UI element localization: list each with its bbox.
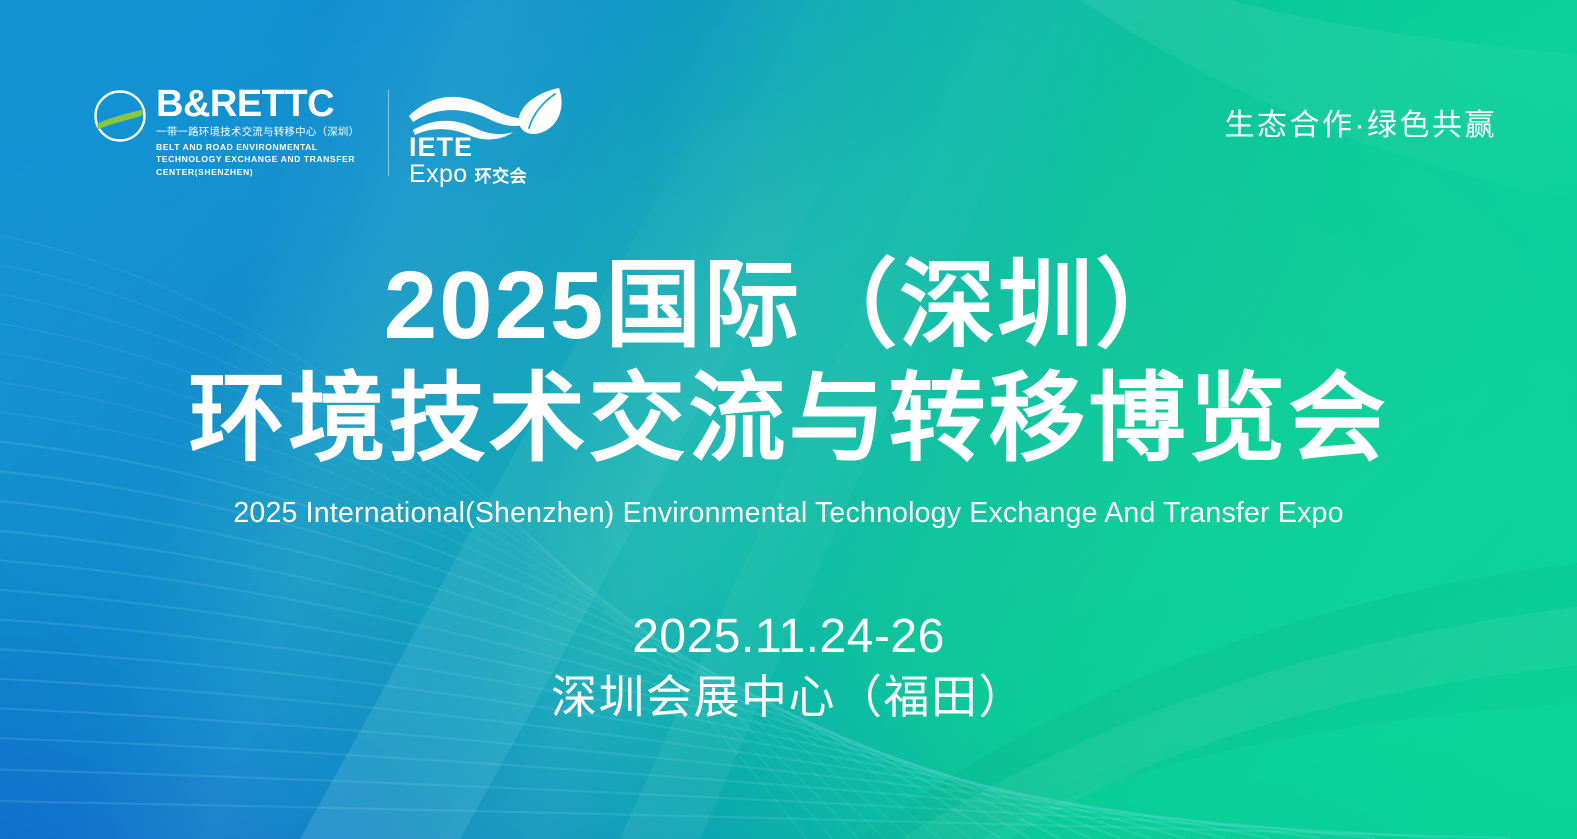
iete-subline: Expo 环交会 (409, 162, 527, 187)
iete-expo-logo: IETE Expo 环交会 (407, 86, 567, 186)
iete-acronym: IETE (409, 132, 473, 162)
brettc-wordmark: B&RETTC (156, 86, 371, 122)
brettc-logo: B&RETTC 一带一路环境技术交流与转移中心（深圳） BELT AND ROA… (92, 86, 371, 178)
brettc-chinese-name: 一带一路环境技术交流与转移中心（深圳） (156, 127, 371, 138)
hero-content: 2025国际（深圳） 环境技术交流与转移博览会 2025 Internation… (0, 258, 1577, 725)
globe-band-icon (92, 88, 148, 149)
event-meta: 2025.11.24-26 深圳会展中心（福田） (0, 612, 1577, 725)
title-line-1: 2025国际（深圳） (0, 258, 1577, 354)
banner-header: B&RETTC 一带一路环境技术交流与转移中心（深圳） BELT AND ROA… (0, 0, 1577, 210)
event-banner: B&RETTC 一带一路环境技术交流与转移中心（深圳） BELT AND ROA… (0, 0, 1577, 839)
title-line-2: 环境技术交流与转移博览会 (0, 370, 1577, 467)
iete-expo-word: Expo (409, 162, 468, 187)
event-venue: 深圳会展中心（福田） (0, 670, 1577, 724)
iete-text-block: IETE Expo 环交会 (409, 134, 527, 187)
logo-group: B&RETTC 一带一路环境技术交流与转移中心（深圳） BELT AND ROA… (92, 86, 567, 186)
iete-chinese-abbr: 环交会 (475, 168, 528, 185)
header-slogan: 生态合作·绿色共赢 (1225, 100, 1526, 144)
brettc-english-name: BELT AND ROAD ENVIRONMENTAL TECHNOLOGY E… (156, 141, 371, 178)
title-english: 2025 International(Shenzhen) Environment… (0, 497, 1577, 530)
logo-divider (388, 90, 389, 176)
brettc-text-block: B&RETTC 一带一路环境技术交流与转移中心（深圳） BELT AND ROA… (156, 86, 371, 178)
event-date: 2025.11.24-26 (0, 612, 1577, 662)
